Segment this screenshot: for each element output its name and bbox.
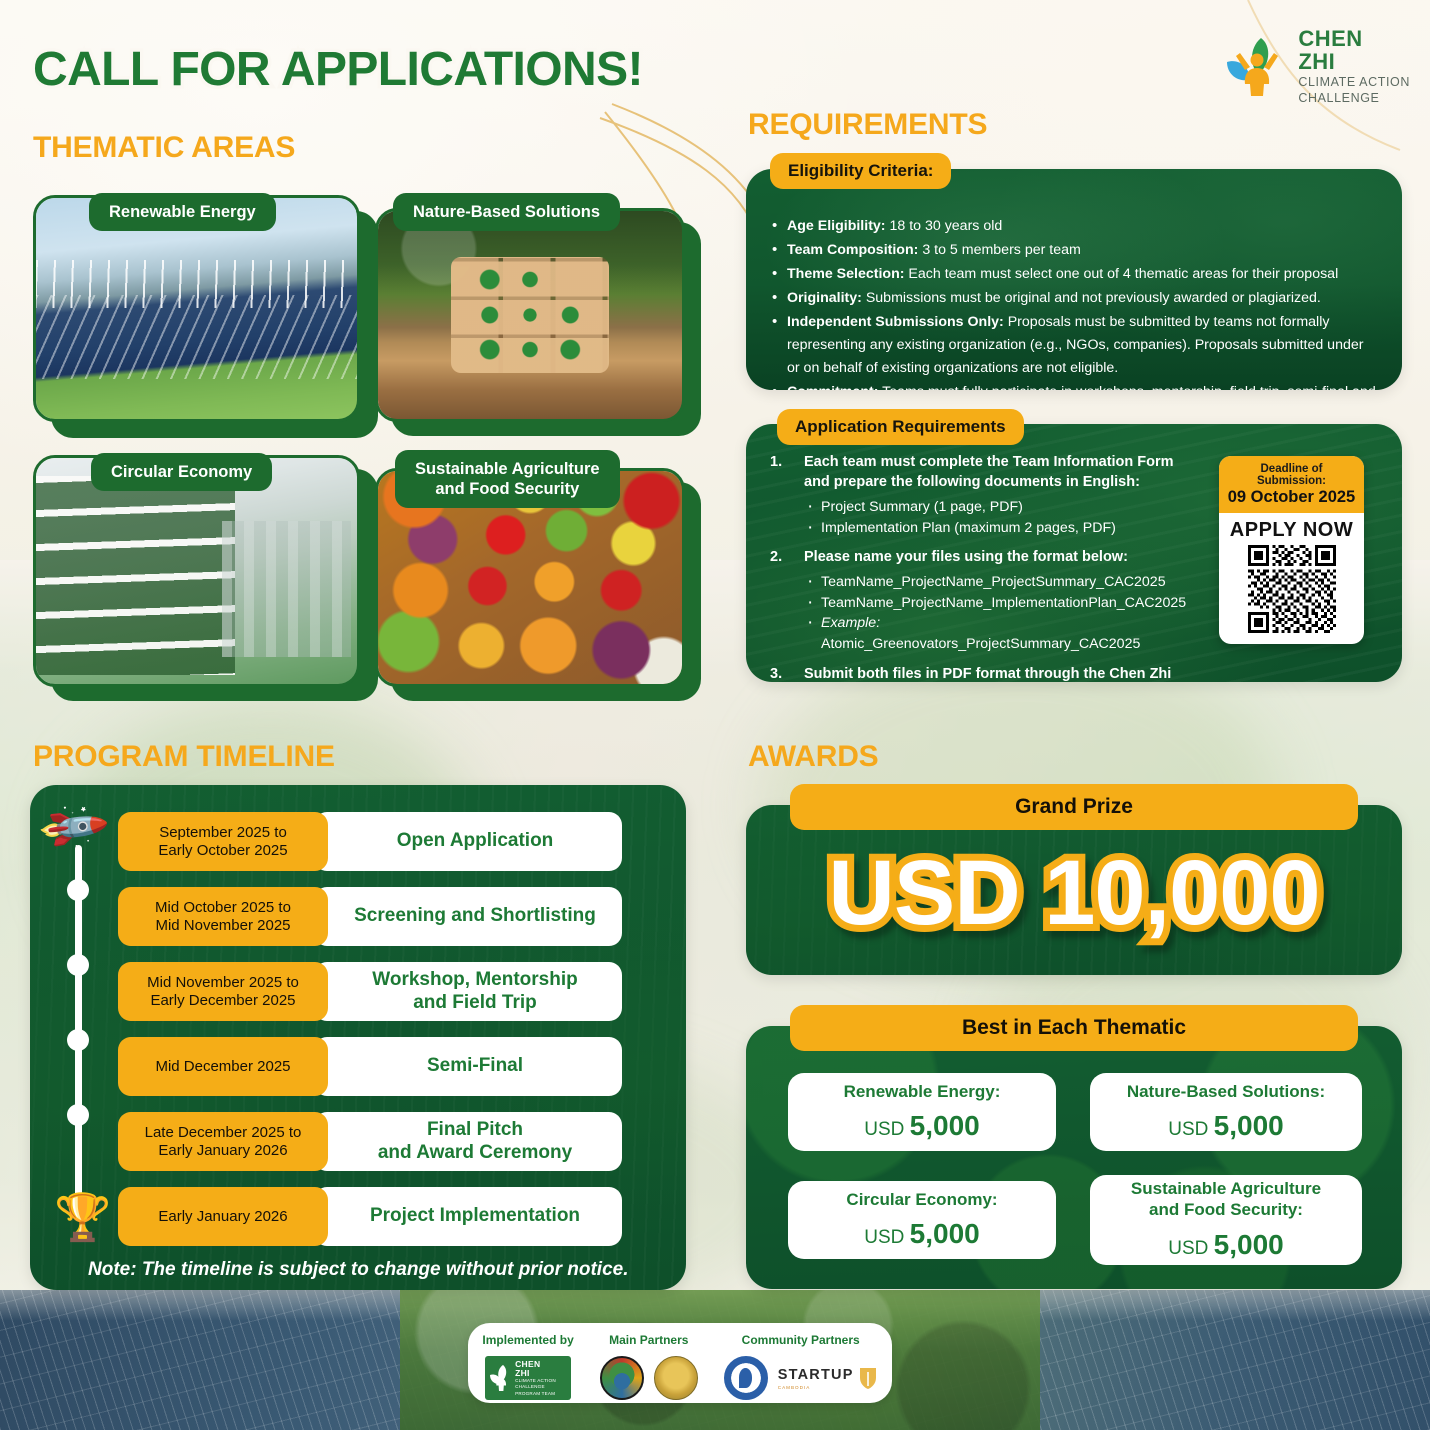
panel-eligibility-criteria: Age Eligibility: 18 to 30 years old Team… — [746, 169, 1402, 390]
award-card-sustainable-agriculture: Sustainable Agricultureand Food Security… — [1090, 1175, 1362, 1265]
award-card-circular-economy: Circular Economy: USD 5,000 — [788, 1181, 1056, 1259]
timeline-date: Late December 2025 toEarly January 2026 — [118, 1112, 328, 1171]
timeline-row[interactable]: Mid November 2025 toEarly December 2025 … — [118, 962, 622, 1021]
award-card-title: Nature-Based Solutions: — [1127, 1082, 1325, 1103]
timeline-row[interactable]: Early January 2026 Project Implementatio… — [118, 1187, 622, 1246]
panel-grand-prize: USD 10,000 — [746, 805, 1402, 975]
award-value: 5,000 — [910, 1218, 980, 1249]
timeline-row[interactable]: September 2025 toEarly October 2025 Open… — [118, 812, 622, 871]
eligibility-item-label: Originality: — [787, 290, 862, 306]
eligibility-item: Age Eligibility: 18 to 30 years old — [772, 215, 1380, 238]
eligibility-item-label: Age Eligibility: — [787, 218, 886, 234]
leaf-person-icon — [1217, 30, 1289, 102]
timeline-event-line1: Final Pitch — [427, 1119, 523, 1140]
award-card-title-line2: and Food Security: — [1149, 1200, 1303, 1219]
award-currency: USD — [864, 1119, 909, 1140]
eligibility-item-text: 3 to 5 members per team — [918, 242, 1080, 258]
step-text: Please name your files using the format … — [804, 549, 1128, 565]
page-title: CALL FOR APPLICATIONS! — [33, 42, 643, 97]
timeline-event: Semi-Final — [314, 1037, 622, 1096]
eligibility-item-text: 18 to 30 years old — [886, 218, 1003, 234]
thematic-card-sustainable-agriculture[interactable]: Sustainable Agriculture and Food Securit… — [375, 468, 685, 687]
award-value: 5,000 — [1214, 1110, 1284, 1141]
timeline-event: Final Pitchand Award Ceremony — [314, 1112, 622, 1171]
thematic-label-circular-economy: Circular Economy — [91, 453, 272, 491]
award-card-amount: USD 5,000 — [1168, 1229, 1283, 1261]
footer-group-title: Community Partners — [742, 1333, 860, 1347]
pill-application-requirements: Application Requirements — [777, 409, 1024, 445]
application-step: 1. Each team must complete the Team Info… — [762, 452, 1192, 538]
eligibility-item: Theme Selection: Each team must select o… — [772, 263, 1380, 286]
thematic-label-renewable-energy: Renewable Energy — [89, 193, 276, 231]
timeline-event-line1: Open Application — [397, 830, 554, 851]
timeline-date-line1: Mid December 2025 — [155, 1058, 290, 1075]
eligibility-item-label: Team Composition: — [787, 242, 918, 258]
thematic-card-nature-based-solutions[interactable]: Nature-Based Solutions — [375, 208, 685, 422]
section-title-requirements: REQUIREMENTS — [748, 108, 987, 142]
section-title-thematic-areas: THEMATIC AREAS — [33, 131, 295, 165]
timeline-date-line1: Early January 2026 — [158, 1208, 287, 1225]
thematic-label-sustainable-agriculture: Sustainable Agriculture and Food Securit… — [395, 450, 620, 508]
eligibility-item-text: Submissions must be original and not pre… — [862, 290, 1321, 306]
youth-council-seal-icon — [724, 1356, 768, 1400]
timeline-date: Mid December 2025 — [118, 1037, 328, 1096]
logo-line-challenge: CHALLENGE — [515, 1385, 556, 1390]
footer-group-implemented-by: Implemented by CHEN ZHI CLIMA — [469, 1333, 586, 1402]
deadline-label: Deadline of Submission: — [1225, 463, 1358, 487]
timeline-date: September 2025 toEarly October 2025 — [118, 812, 328, 871]
footer-group-community-partners: Community Partners STARTUP CAMBODIA — [711, 1333, 891, 1402]
timeline-date-line1: Mid October 2025 to — [155, 899, 291, 916]
timeline-date-line1: Late December 2025 to — [145, 1124, 302, 1141]
step-number: 2. — [770, 547, 782, 567]
eligibility-item-label: Theme Selection: — [787, 266, 904, 282]
application-step: 2. Please name your files using the form… — [762, 547, 1192, 654]
chen-zhi-logo-text: CHEN ZHI CLIMATE ACTION CHALLENGE PROGRA… — [515, 1360, 556, 1397]
timeline-dot — [67, 879, 89, 901]
leaf-person-icon — [489, 1363, 511, 1393]
step-text: Each team must complete the Team Informa… — [804, 454, 1174, 490]
qr-code-icon[interactable] — [1236, 545, 1348, 633]
pill-eligibility-criteria: Eligibility Criteria: — [770, 153, 951, 189]
timeline-date-line2: Mid November 2025 — [155, 917, 290, 934]
logo-line-chen: CHEN — [1298, 28, 1410, 50]
step-sub-item: TeamName_ProjectName_ImplementationPlan_… — [804, 593, 1192, 614]
eligibility-item-label: Independent Submissions Only: — [787, 314, 1004, 330]
step-sub-item: TeamName_ProjectName_ProjectSummary_CAC2… — [804, 572, 1192, 593]
eligibility-item: Independent Submissions Only: Proposals … — [772, 311, 1380, 380]
deadline-date: 09 October 2025 — [1225, 488, 1358, 507]
timeline-event-line1: Semi-Final — [427, 1055, 523, 1076]
timeline-dot — [67, 1104, 89, 1126]
leaf-icon — [858, 1366, 878, 1390]
timeline-date-line2: Early December 2025 — [150, 992, 295, 1009]
step-sub-item: Project Summary (1 page, PDF) — [804, 497, 1192, 518]
royal-government-seal-icon — [654, 1356, 698, 1400]
cambodia-ministry-seal-icon — [600, 1356, 644, 1400]
timeline-date-line2: Early January 2026 — [158, 1142, 287, 1159]
award-currency: USD — [1168, 1238, 1213, 1259]
apply-now-qr-box[interactable]: Deadline of Submission: 09 October 2025 … — [1219, 456, 1364, 644]
startup-logo-name: STARTUP — [778, 1367, 854, 1383]
timeline-event-line2: and Field Trip — [413, 992, 537, 1013]
timeline-event: Project Implementation — [314, 1187, 622, 1246]
timeline-row[interactable]: Mid December 2025 Semi-Final — [118, 1037, 622, 1096]
timeline-dot — [67, 954, 89, 976]
application-steps-list: 1. Each team must complete the Team Info… — [762, 452, 1192, 682]
grand-prize-amount: USD 10,000 — [746, 841, 1402, 946]
award-card-amount: USD 5,000 — [864, 1218, 979, 1250]
timeline-note: Note: The timeline is subject to change … — [88, 1259, 629, 1281]
eligibility-item: Team Composition: 3 to 5 members per tea… — [772, 239, 1380, 262]
timeline-event: Open Application — [314, 812, 622, 871]
awards-thematic-header: Best in Each Thematic — [790, 1005, 1358, 1051]
timeline-event-line1: Screening and Shortlisting — [354, 905, 596, 926]
award-card-title: Sustainable Agricultureand Food Security… — [1131, 1179, 1321, 1220]
timeline-date: Mid October 2025 toMid November 2025 — [118, 887, 328, 946]
footer-group-title: Main Partners — [609, 1333, 688, 1347]
thematic-card-circular-economy[interactable]: Circular Economy — [33, 455, 360, 687]
apply-now-label: APPLY NOW — [1219, 513, 1364, 545]
eligibility-list: Age Eligibility: 18 to 30 years old Team… — [772, 215, 1380, 390]
logo-line-challenge: CHALLENGE — [1298, 92, 1410, 105]
section-title-program-timeline: PROGRAM TIMELINE — [33, 740, 335, 774]
example-text: Atomic_Greenovators_ProjectSummary_CAC20… — [821, 636, 1140, 652]
timeline-row[interactable]: Mid October 2025 toMid November 2025 Scr… — [118, 887, 622, 946]
footer-logos — [600, 1354, 698, 1402]
eligibility-item-label: Commitment: — [787, 384, 878, 390]
step-number: 3. — [770, 664, 782, 682]
award-value: 5,000 — [910, 1110, 980, 1141]
award-card-title: Circular Economy: — [846, 1190, 997, 1211]
timeline-event: Workshop, Mentorshipand Field Trip — [314, 962, 622, 1021]
logo-line-climate-action: CLIMATE ACTION — [1298, 76, 1410, 89]
timeline-date: Mid November 2025 toEarly December 2025 — [118, 962, 328, 1021]
thematic-label-line2: and Food Security — [435, 480, 579, 498]
timeline-event-line2: and Award Ceremony — [378, 1142, 572, 1163]
award-card-amount: USD 5,000 — [1168, 1110, 1283, 1142]
award-currency: USD — [864, 1227, 909, 1248]
logo-line-zhi: ZHI — [1298, 51, 1410, 73]
application-step: 3. Submit both files in PDF format throu… — [762, 664, 1192, 682]
example-label: Example: — [821, 615, 880, 631]
footer-partners-bar: Implemented by CHEN ZHI CLIMA — [468, 1323, 892, 1403]
logo-line-climate-action: CLIMATE ACTION — [515, 1379, 556, 1384]
footer-logos: CHEN ZHI CLIMATE ACTION CHALLENGE PROGRA… — [485, 1354, 571, 1402]
timeline-row[interactable]: Late December 2025 toEarly January 2026 … — [118, 1112, 622, 1171]
footer-group-main-partners: Main Partners — [587, 1333, 711, 1402]
award-card-renewable-energy: Renewable Energy: USD 5,000 — [788, 1073, 1056, 1151]
step-text: Submit both files in PDF format through … — [804, 666, 1171, 682]
award-card-amount: USD 5,000 — [864, 1110, 979, 1142]
brand-logo: CHEN ZHI CLIMATE ACTION CHALLENGE — [1217, 28, 1410, 104]
timeline-event-line1: Workshop, Mentorship — [372, 969, 577, 990]
timeline-event: Screening and Shortlisting — [314, 887, 622, 946]
timeline-dot — [67, 1029, 89, 1051]
step-number: 1. — [770, 452, 782, 472]
eligibility-item-text: Each team must select one out of 4 thema… — [904, 266, 1338, 282]
timeline-event-line1: Project Implementation — [370, 1205, 580, 1226]
startup-logo-sub: CAMBODIA — [778, 1385, 854, 1390]
award-card-title: Renewable Energy: — [844, 1082, 1001, 1103]
thematic-label-nature-based-solutions: Nature-Based Solutions — [393, 193, 620, 231]
awards-grand-prize-header: Grand Prize — [790, 784, 1358, 830]
footer-logos: STARTUP CAMBODIA — [724, 1354, 878, 1402]
thematic-photo-nature-based-solutions — [375, 208, 685, 422]
thematic-card-renewable-energy[interactable]: Renewable Energy — [33, 195, 360, 422]
trophy-icon: 🏆 — [54, 1190, 111, 1245]
chen-zhi-program-team-logo: CHEN ZHI CLIMATE ACTION CHALLENGE PROGRA… — [485, 1356, 571, 1400]
timeline-date-line1: September 2025 to — [159, 824, 287, 841]
eligibility-item: Commitment: Teams must fully participate… — [772, 381, 1380, 390]
qr-deadline-header: Deadline of Submission: 09 October 2025 — [1219, 456, 1364, 513]
award-currency: USD — [1168, 1119, 1213, 1140]
logo-line-zhi: ZHI — [515, 1369, 556, 1378]
step-sub-item: Implementation Plan (maximum 2 pages, PD… — [804, 518, 1192, 539]
award-card-nature-based-solutions: Nature-Based Solutions: USD 5,000 — [1090, 1073, 1362, 1151]
logo-line-program-team: PROGRAM TEAM — [515, 1392, 556, 1397]
startup-cambodia-logo: STARTUP CAMBODIA — [778, 1366, 878, 1390]
timeline-date: Early January 2026 — [118, 1187, 328, 1246]
timeline-date-line1: Mid November 2025 to — [147, 974, 299, 991]
eligibility-item: Originality: Submissions must be origina… — [772, 287, 1380, 310]
timeline-date-line2: Early October 2025 — [158, 842, 287, 859]
section-title-awards: AWARDS — [748, 740, 878, 774]
thematic-label-line1: Sustainable Agriculture — [415, 460, 600, 478]
award-card-title-line1: Sustainable Agriculture — [1131, 1179, 1321, 1198]
step-sublist: Project Summary (1 page, PDF) Implementa… — [804, 497, 1192, 538]
footer-group-title: Implemented by — [482, 1333, 573, 1347]
step-sub-item-example: Example: Atomic_Greenovators_ProjectSumm… — [804, 613, 1192, 654]
step-sublist: TeamName_ProjectName_ProjectSummary_CAC2… — [804, 572, 1192, 654]
award-value: 5,000 — [1214, 1229, 1284, 1260]
